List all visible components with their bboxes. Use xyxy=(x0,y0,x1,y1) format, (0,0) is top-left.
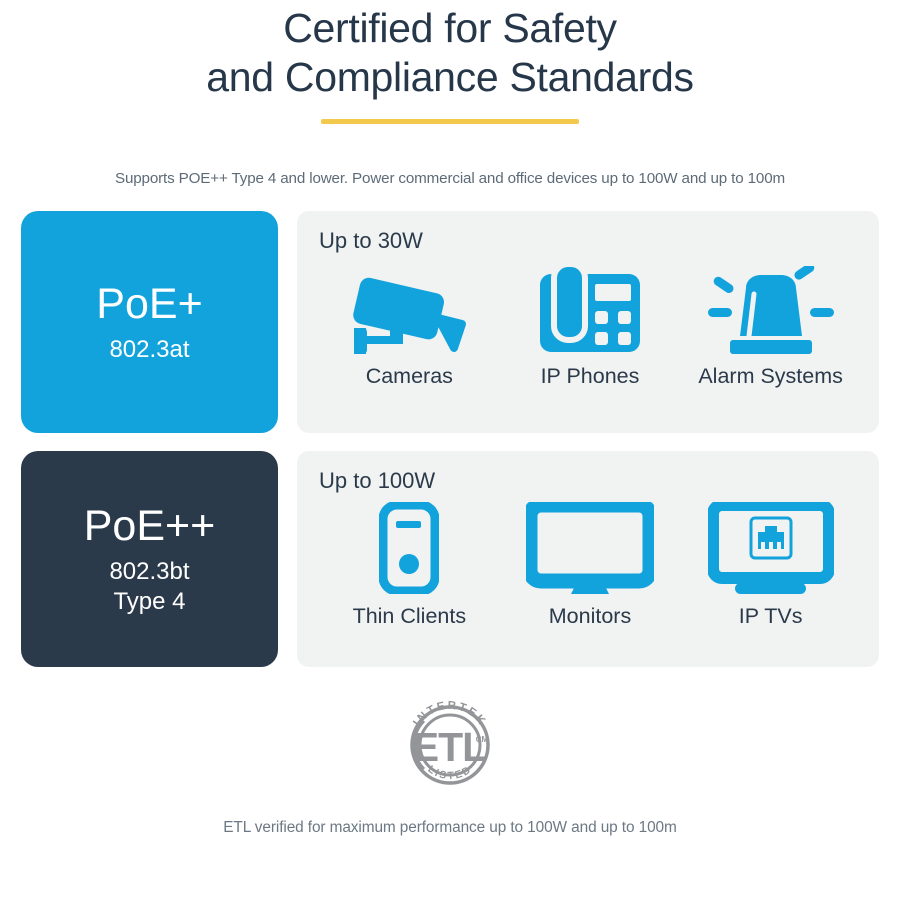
poe-plus-device-list: Cameras xyxy=(319,258,861,389)
device-label-monitors: Monitors xyxy=(549,603,631,629)
svg-text:CM: CM xyxy=(476,735,489,744)
poe-plusplus-standard-line-2: Type 4 xyxy=(109,587,189,617)
ip-phone-icon xyxy=(538,258,642,354)
poe-plusplus-device-list: Thin Clients Monitors xyxy=(319,498,861,629)
poe-plusplus-devices-panel: Up to 100W Thin Clients xyxy=(297,451,879,667)
page-title-line-2: and Compliance Standards xyxy=(0,53,900,102)
etl-intertek-listed-logo: INTERTEK LISTED ETL CM xyxy=(394,687,506,799)
title-accent-rule xyxy=(321,119,579,124)
intro-text: Supports POE++ Type 4 and lower. Power c… xyxy=(0,170,900,187)
poe-plusplus-badge-standard: 802.3bt Type 4 xyxy=(109,557,189,617)
alarm-light-icon xyxy=(708,258,834,354)
page-header: Certified for Safety and Compliance Stan… xyxy=(0,0,900,124)
device-item-ip-tvs: IP TVs xyxy=(680,498,861,629)
device-item-monitors: Monitors xyxy=(500,498,681,629)
device-label-alarm-systems: Alarm Systems xyxy=(698,363,843,389)
poe-plus-badge: PoE+ 802.3at xyxy=(21,211,278,433)
footer-note-text: ETL verified for maximum performance up … xyxy=(223,819,676,837)
device-label-ip-phones: IP Phones xyxy=(541,363,640,389)
poe-plusplus-power-label: Up to 100W xyxy=(319,468,861,494)
infographic-page: Certified for Safety and Compliance Stan… xyxy=(0,0,900,900)
device-item-cameras: Cameras xyxy=(319,258,500,389)
device-item-alarm-systems: Alarm Systems xyxy=(680,258,861,389)
monitor-icon xyxy=(526,498,654,594)
poe-plusplus-badge: PoE++ 802.3bt Type 4 xyxy=(21,451,278,667)
device-item-ip-phones: IP Phones xyxy=(500,258,681,389)
page-footer: INTERTEK LISTED ETL CM ETL verified for … xyxy=(0,687,900,837)
svg-text:ETL: ETL xyxy=(412,724,486,770)
poe-plus-devices-panel: Up to 30W Cameras xyxy=(297,211,879,433)
device-item-thin-clients: Thin Clients xyxy=(319,498,500,629)
poe-plus-badge-standard: 802.3at xyxy=(109,335,189,365)
poe-plusplus-standard-line-1: 802.3bt xyxy=(109,557,189,587)
poe-plusplus-badge-title: PoE++ xyxy=(84,501,216,551)
device-label-cameras: Cameras xyxy=(366,363,453,389)
title-underline-wrap xyxy=(0,119,900,124)
poe-tier-rows: PoE+ 802.3at Up to 30W xyxy=(0,211,900,667)
poe-plus-power-label: Up to 30W xyxy=(319,228,861,254)
security-camera-icon xyxy=(350,258,468,354)
device-label-thin-clients: Thin Clients xyxy=(353,603,467,629)
poe-plusplus-row: PoE++ 802.3bt Type 4 Up to 100W xyxy=(21,451,879,667)
ip-tv-ethernet-icon xyxy=(708,498,834,594)
poe-plus-badge-title: PoE+ xyxy=(96,279,202,329)
thin-client-tower-icon xyxy=(379,498,439,594)
poe-plus-row: PoE+ 802.3at Up to 30W xyxy=(21,211,879,433)
page-title-line-1: Certified for Safety xyxy=(0,4,900,53)
device-label-ip-tvs: IP TVs xyxy=(739,603,803,629)
